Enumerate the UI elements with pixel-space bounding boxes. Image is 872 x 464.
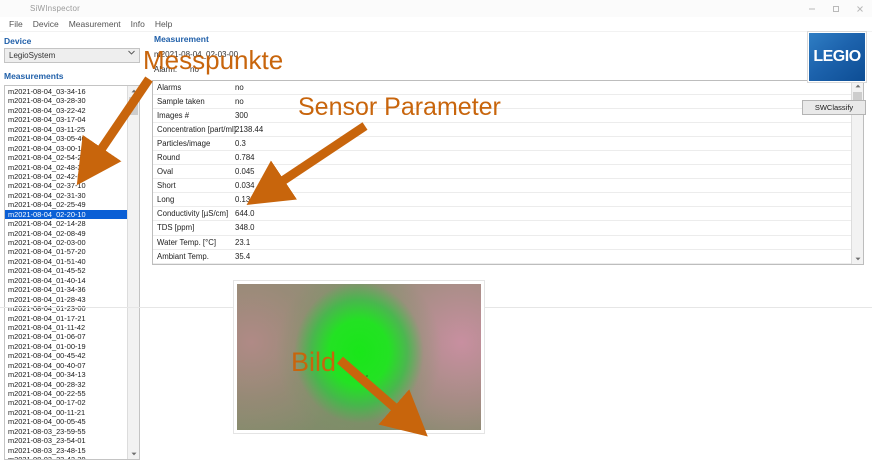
parameter-value: no <box>235 95 851 108</box>
window-title: SiWInspector <box>30 4 80 13</box>
table-row[interactable]: Particles/image0.3 <box>153 137 851 151</box>
list-item[interactable]: m2021-08-04_01-00-19 <box>5 342 127 351</box>
parameter-key: Concentration [part/ml] <box>153 123 235 136</box>
alarm-label: Alarm: <box>154 65 190 74</box>
measurement-image-content <box>237 284 481 430</box>
menu-item-file[interactable]: File <box>4 19 28 29</box>
list-item[interactable]: m2021-08-04_01-40-14 <box>5 276 127 285</box>
parameter-key: Conductivity [µS/cm] <box>153 207 235 220</box>
menu-item-measurement[interactable]: Measurement <box>64 19 126 29</box>
device-selected-value: LegioSystem <box>9 51 55 60</box>
list-item[interactable]: m2021-08-04_03-34-16 <box>5 87 127 96</box>
params-scroll-down-icon[interactable] <box>852 254 863 264</box>
parameter-value: 0.3 <box>235 137 851 150</box>
parameter-value: 35.4 <box>235 250 851 263</box>
device-label: Device <box>4 36 146 46</box>
table-row[interactable]: Oval0.045 <box>153 165 851 179</box>
list-item[interactable]: m2021-08-04_02-37-10 <box>5 181 127 190</box>
list-item[interactable]: m2021-08-04_00-17-02 <box>5 398 127 407</box>
table-row[interactable]: Round0.784 <box>153 151 851 165</box>
menu-item-info[interactable]: Info <box>126 19 150 29</box>
list-item[interactable]: m2021-08-04_00-05-45 <box>5 417 127 426</box>
parameter-value: 0.045 <box>235 165 851 178</box>
detail-title: Measurement <box>154 34 872 44</box>
params-scroll-up-icon[interactable] <box>852 81 863 91</box>
list-item[interactable]: m2021-08-04_00-11-21 <box>5 408 127 417</box>
list-item[interactable]: m2021-08-04_02-08-49 <box>5 229 127 238</box>
list-item[interactable]: m2021-08-04_03-17-04 <box>5 115 127 124</box>
window-controls <box>800 0 872 17</box>
list-item[interactable]: m2021-08-04_01-06-07 <box>5 332 127 341</box>
list-item[interactable]: m2021-08-04_01-51-40 <box>5 257 127 266</box>
list-item[interactable]: m2021-08-04_03-28-30 <box>5 96 127 105</box>
measurements-label: Measurements <box>4 71 146 81</box>
legio-logo: LEGIO <box>808 32 866 82</box>
swclassify-button[interactable]: SWClassify <box>802 100 866 115</box>
list-item[interactable]: m2021-08-04_00-45-42 <box>5 351 127 360</box>
table-row[interactable]: Alarmsno <box>153 81 851 95</box>
minimize-button[interactable] <box>800 0 824 17</box>
list-item[interactable]: m2021-08-04_01-45-52 <box>5 266 127 275</box>
parameters-table-body: AlarmsnoSample takennoImages #300Concent… <box>153 81 851 264</box>
table-row[interactable]: Concentration [part/ml]2138.44 <box>153 123 851 137</box>
list-item[interactable]: m2021-08-04_01-11-42 <box>5 323 127 332</box>
device-dropdown[interactable]: LegioSystem <box>4 48 140 63</box>
table-row[interactable]: Long0.136 <box>153 193 851 207</box>
list-item[interactable]: m2021-08-04_01-23-00 <box>5 304 127 313</box>
parameter-key: Long <box>153 193 235 206</box>
measurement-image[interactable] <box>233 280 485 434</box>
parameter-value: 644.0 <box>235 207 851 220</box>
logo-text: LEGIO <box>813 48 860 66</box>
table-row[interactable]: Water Temp. [°C]23.1 <box>153 236 851 250</box>
list-item[interactable]: m2021-08-04_03-22-42 <box>5 106 127 115</box>
workspace: Device LegioSystem Measurements m2021-08… <box>0 32 872 464</box>
title-bar: SiWInspector <box>0 0 872 17</box>
parameter-value: 348.0 <box>235 221 851 234</box>
parameter-key: Ambiant Temp. <box>153 250 235 263</box>
detail-measurement-id: m2021-08-04_02-03-00 <box>154 50 872 59</box>
list-item[interactable]: m2021-08-04_00-22-55 <box>5 389 127 398</box>
list-item[interactable]: m2021-08-03_23-54-01 <box>5 436 127 445</box>
list-item[interactable]: m2021-08-04_01-34-36 <box>5 285 127 294</box>
list-item[interactable]: m2021-08-04_01-57-20 <box>5 247 127 256</box>
list-item[interactable]: m2021-08-04_02-20-10 <box>5 210 127 219</box>
list-item[interactable]: m2021-08-04_00-28-32 <box>5 380 127 389</box>
table-row[interactable]: Conductivity [µS/cm]644.0 <box>153 207 851 221</box>
list-item[interactable]: m2021-08-04_03-11-25 <box>5 125 127 134</box>
detail-alarm-row: Alarm: no <box>154 65 872 74</box>
list-item[interactable]: m2021-08-04_00-34-13 <box>5 370 127 379</box>
parameter-value: 23.1 <box>235 236 851 249</box>
parameter-key: Water Temp. [°C] <box>153 236 235 249</box>
list-item[interactable]: m2021-08-04_02-48-34 <box>5 163 127 172</box>
parameter-key: Images # <box>153 109 235 122</box>
list-item[interactable]: m2021-08-04_02-14-28 <box>5 219 127 228</box>
parameter-value: 2138.44 <box>235 123 851 136</box>
parameter-key: Round <box>153 151 235 164</box>
table-row[interactable]: Short0.034 <box>153 179 851 193</box>
measurements-scrollbar[interactable] <box>127 86 139 459</box>
left-panel: Device LegioSystem Measurements m2021-08… <box>0 32 146 464</box>
detail-header: Measurement m2021-08-04_02-03-00 Alarm: … <box>150 32 872 74</box>
menu-item-help[interactable]: Help <box>150 19 177 29</box>
scroll-up-icon[interactable] <box>128 86 139 96</box>
menu-item-device[interactable]: Device <box>28 19 64 29</box>
parameter-key: Short <box>153 179 235 192</box>
measurements-listbox[interactable]: m2021-08-04_03-34-16m2021-08-04_03-28-30… <box>4 85 140 460</box>
list-item[interactable]: m2021-08-04_02-54-20 <box>5 153 127 162</box>
parameter-key: Alarms <box>153 81 235 94</box>
table-row[interactable]: TDS [ppm]348.0 <box>153 221 851 235</box>
parameter-value: no <box>235 81 851 94</box>
parameter-value: 0.784 <box>235 151 851 164</box>
list-item[interactable]: m2021-08-04_03-05-46 <box>5 134 127 143</box>
parameter-key: Particles/image <box>153 137 235 150</box>
list-item[interactable]: m2021-08-04_00-40-07 <box>5 361 127 370</box>
chevron-down-icon <box>128 50 135 57</box>
measurements-list[interactable]: m2021-08-04_03-34-16m2021-08-04_03-28-30… <box>5 86 127 459</box>
alarm-value: no <box>190 65 199 74</box>
list-item[interactable]: m2021-08-03_23-42-39 <box>5 455 127 459</box>
list-item[interactable]: m2021-08-04_02-42-51 <box>5 172 127 181</box>
particle-dot <box>366 375 368 377</box>
maximize-button[interactable] <box>824 0 848 17</box>
parameter-key: TDS [ppm] <box>153 221 235 234</box>
parameter-value: 300 <box>235 109 851 122</box>
menu-bar: File Device Measurement Info Help <box>0 17 872 32</box>
list-item[interactable]: m2021-08-03_23-48-15 <box>5 446 127 455</box>
parameter-key: Sample taken <box>153 95 235 108</box>
table-row[interactable]: Ambiant Temp.35.4 <box>153 250 851 264</box>
list-item[interactable]: m2021-08-04_02-31-30 <box>5 191 127 200</box>
scroll-down-icon[interactable] <box>128 449 139 459</box>
parameters-table[interactable]: AlarmsnoSample takennoImages #300Concent… <box>152 80 864 265</box>
list-item[interactable]: m2021-08-03_23-59-55 <box>5 427 127 436</box>
scrollbar-thumb[interactable] <box>129 97 138 115</box>
table-row[interactable]: Sample takenno <box>153 95 851 109</box>
list-item[interactable]: m2021-08-04_03-00-10 <box>5 144 127 153</box>
parameter-key: Oval <box>153 165 235 178</box>
list-item[interactable]: m2021-08-04_02-25-49 <box>5 200 127 209</box>
table-row[interactable]: Images #300 <box>153 109 851 123</box>
close-button[interactable] <box>848 0 872 17</box>
parameter-value: 0.136 <box>235 193 851 206</box>
list-item[interactable]: m2021-08-04_01-17-21 <box>5 314 127 323</box>
list-item[interactable]: m2021-08-04_01-28-43 <box>5 295 127 304</box>
list-item[interactable]: m2021-08-04_02-03-00 <box>5 238 127 247</box>
parameter-value: 0.034 <box>235 179 851 192</box>
